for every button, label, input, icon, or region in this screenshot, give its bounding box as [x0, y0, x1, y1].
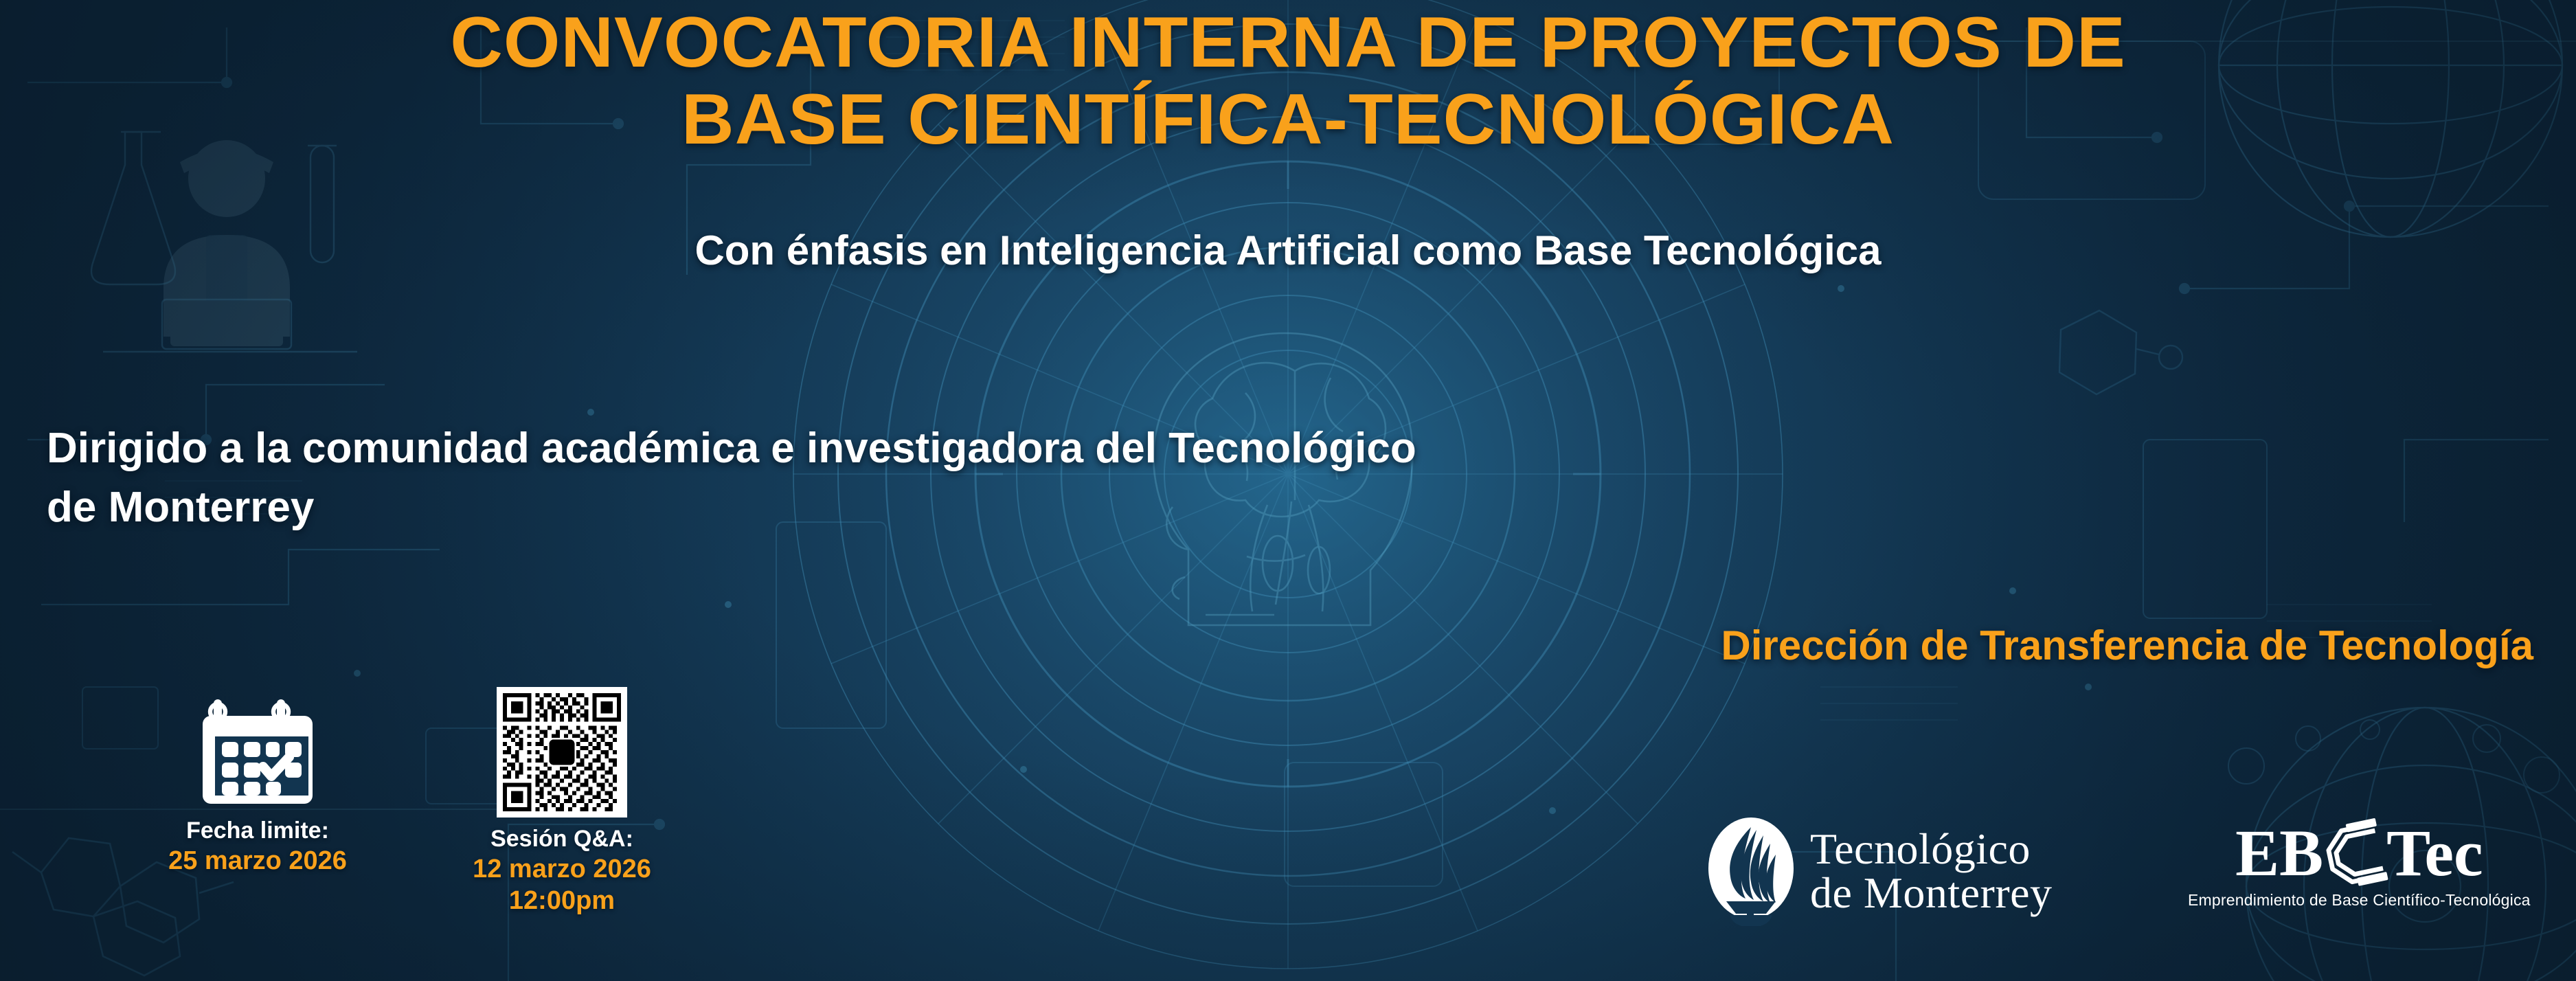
calendar-check-icon	[197, 694, 318, 809]
tec-logo-wordmark: Tecnológico de Monterrey	[1810, 827, 2053, 915]
ebctec-tagline: Emprendimiento de Base Científico-Tecnol…	[2188, 890, 2531, 910]
tec-logo-line-1: Tecnológico	[1810, 827, 2053, 871]
audience-line-1: Dirigido a la comunidad académica e inve…	[47, 419, 1833, 478]
deadline-value: 25 marzo 2026	[113, 845, 402, 877]
tec-logo-line-2: de Monterrey	[1810, 871, 2053, 915]
title-line-2: BASE CIENTÍFICA-TECNOLÓGICA	[0, 81, 2576, 158]
deadline-label: Fecha limite:	[113, 816, 402, 845]
ebc-c-monogram-icon	[2319, 817, 2391, 889]
poster-subtitle: Con énfasis en Inteligencia Artificial c…	[0, 227, 2576, 275]
ebctec-logo: EB Tec Emprendimiento de Base Científico…	[2188, 817, 2531, 910]
tecnologico-de-monterrey-logo: Tecnológico de Monterrey	[1707, 816, 2053, 926]
ebctec-prefix: EB	[2235, 820, 2323, 886]
qa-label: Sesión Q&A:	[425, 824, 699, 853]
title-line-1: CONVOCATORIA INTERNA DE PROYECTOS DE	[0, 4, 2576, 81]
tec-flame-icon	[1707, 816, 1795, 926]
ebctec-wordmark: EB Tec	[2188, 817, 2531, 889]
poster-title: CONVOCATORIA INTERNA DE PROYECTOS DE BAS…	[0, 4, 2576, 158]
qa-time: 12:00pm	[425, 885, 699, 916]
qr-code-icon[interactable]	[497, 687, 627, 817]
qa-session-block: Sesión Q&A: 12 marzo 2026 12:00pm	[425, 687, 699, 916]
ebctec-suffix: Tec	[2386, 820, 2483, 886]
poster-banner: CONVOCATORIA INTERNA DE PROYECTOS DE BAS…	[0, 0, 2576, 981]
audience-line-2: de Monterrey	[47, 478, 1833, 537]
department-name: Dirección de Transferencia de Tecnología	[1721, 622, 2533, 670]
audience-statement: Dirigido a la comunidad académica e inve…	[47, 419, 1833, 537]
qa-date: 12 marzo 2026	[425, 853, 699, 885]
deadline-block: Fecha limite: 25 marzo 2026	[113, 694, 402, 877]
